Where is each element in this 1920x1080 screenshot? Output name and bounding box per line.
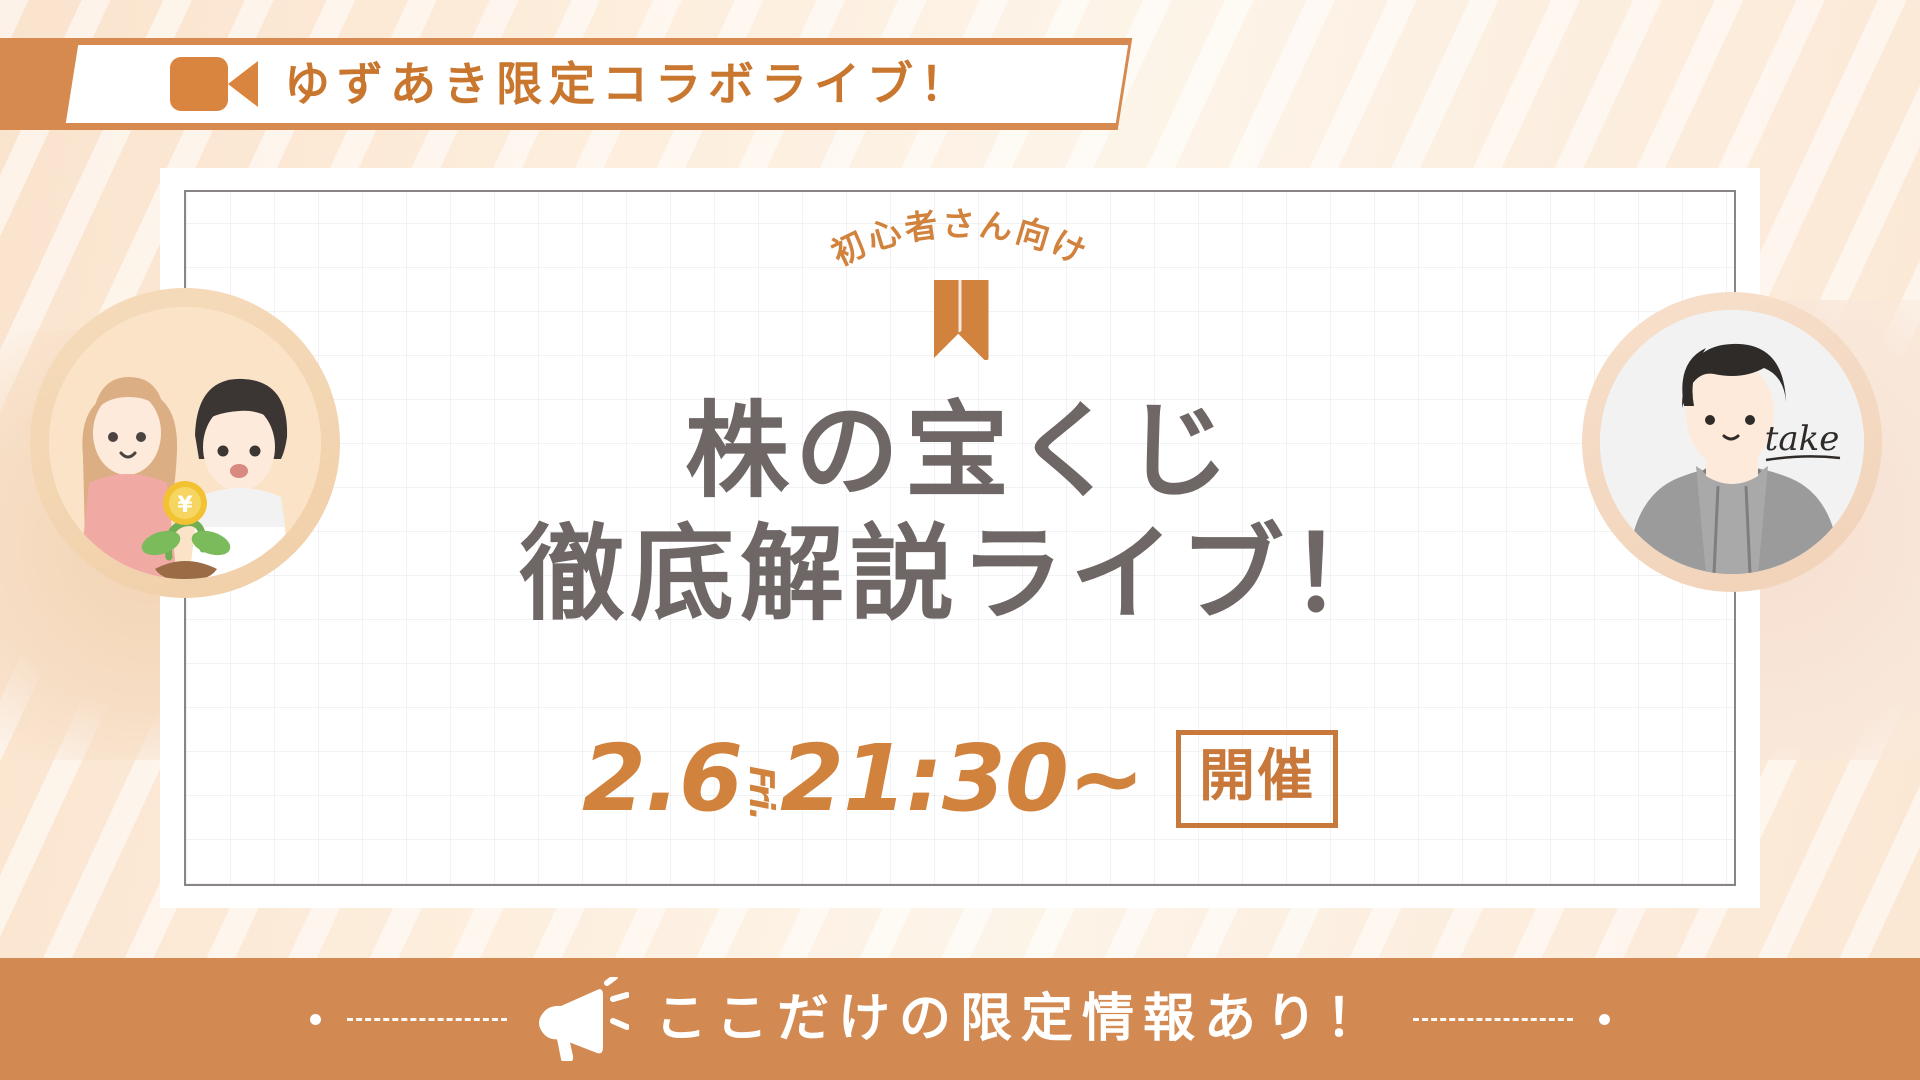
- schedule-date: 2.6: [582, 733, 742, 825]
- bottom-bar-label: ここだけの限定情報あり！: [655, 993, 1387, 1045]
- top-ribbon-label: ゆずあき限定コラボライブ！: [284, 61, 973, 107]
- dash-dot-left: [310, 1014, 321, 1025]
- event-badge: 開催: [1176, 730, 1338, 828]
- arc-label-text: 初心者さん向け: [826, 204, 1095, 273]
- avatar-left-image: ¥: [49, 307, 321, 579]
- schedule-weekday: Fri.: [744, 766, 778, 819]
- svg-text:¥: ¥: [177, 493, 193, 518]
- top-ribbon: ゆずあき限定コラボライブ！: [66, 45, 1128, 123]
- avatar-signature: take: [1765, 419, 1840, 459]
- schedule-datetime: 2.6 Fri. 21:30~: [582, 733, 1144, 825]
- dash-line-right: [1413, 1018, 1573, 1021]
- schedule-time: 21:30~: [780, 733, 1144, 825]
- megaphone-icon: [533, 977, 629, 1061]
- bottom-bar: ここだけの限定情報あり！: [0, 958, 1920, 1080]
- bookmark-ribbon-icon: [930, 276, 990, 360]
- video-camera-icon: [170, 57, 258, 111]
- dash-dot-right: [1599, 1014, 1610, 1025]
- avatar-right-image: take: [1600, 310, 1864, 574]
- schedule-row: 2.6 Fri. 21:30~ 開催: [0, 730, 1920, 828]
- dash-line-left: [347, 1018, 507, 1021]
- avatar-right: take: [1582, 292, 1882, 592]
- avatar-left: ¥: [30, 288, 340, 598]
